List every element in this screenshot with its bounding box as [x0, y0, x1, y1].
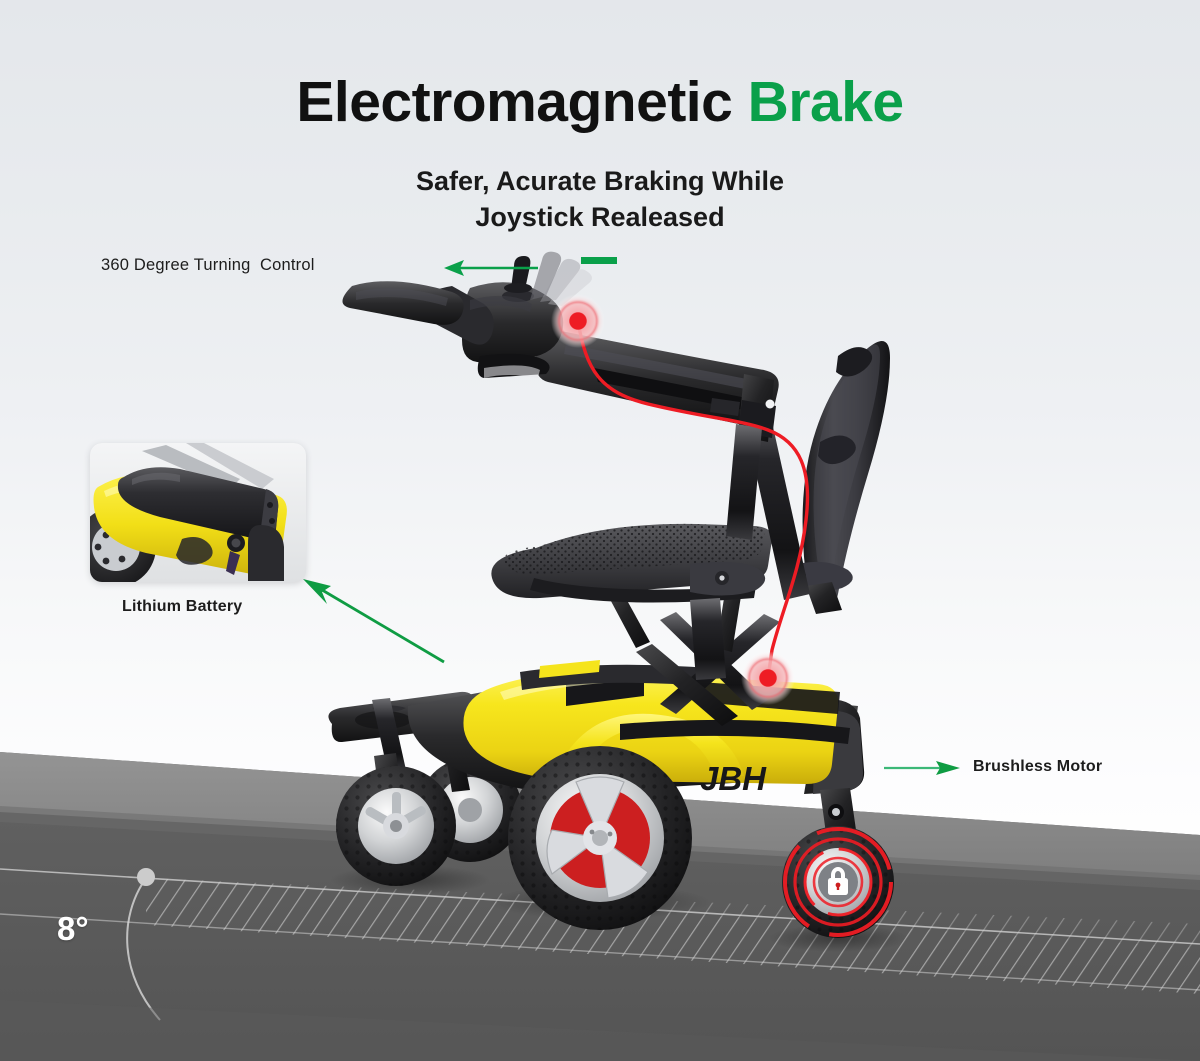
- motor-brake-hotspot[interactable]: [741, 651, 795, 705]
- drive-wheel: [508, 746, 692, 930]
- callout-label-motor: Brushless Motor: [973, 758, 1102, 776]
- callout-label-battery: Lithium Battery: [122, 598, 242, 616]
- title-main: Electromagnetic: [296, 70, 747, 134]
- brand-logo: JBH: [700, 760, 767, 797]
- angle-vertex-dot: [137, 868, 155, 886]
- page-subtitle: Safer, Acurate Braking While Joystick Re…: [0, 163, 1200, 236]
- power-wheelchair: JBH: [328, 252, 894, 938]
- diagonal-up-left-arrow-icon: [303, 579, 444, 662]
- subtitle-line-2: Joystick Realeased: [0, 199, 1200, 235]
- title-accent: Brake: [748, 70, 904, 134]
- infographic-canvas: JBH: [0, 0, 1200, 1061]
- subtitle-line-1: Safer, Acurate Braking While: [0, 163, 1200, 199]
- green-accent-dash: [581, 257, 617, 264]
- incline-angle-label: 8°: [57, 910, 89, 948]
- joystick-brake-hotspot[interactable]: [551, 294, 605, 348]
- page-title: Electromagnetic Brake: [0, 72, 1200, 134]
- lithium-battery-inset[interactable]: [90, 443, 306, 582]
- battery-closeup-image: [90, 443, 306, 582]
- front-caster-wheel: [336, 766, 456, 886]
- callout-label-turning: 360 Degree Turning Control: [101, 256, 315, 275]
- right-arrow-icon: [884, 761, 960, 775]
